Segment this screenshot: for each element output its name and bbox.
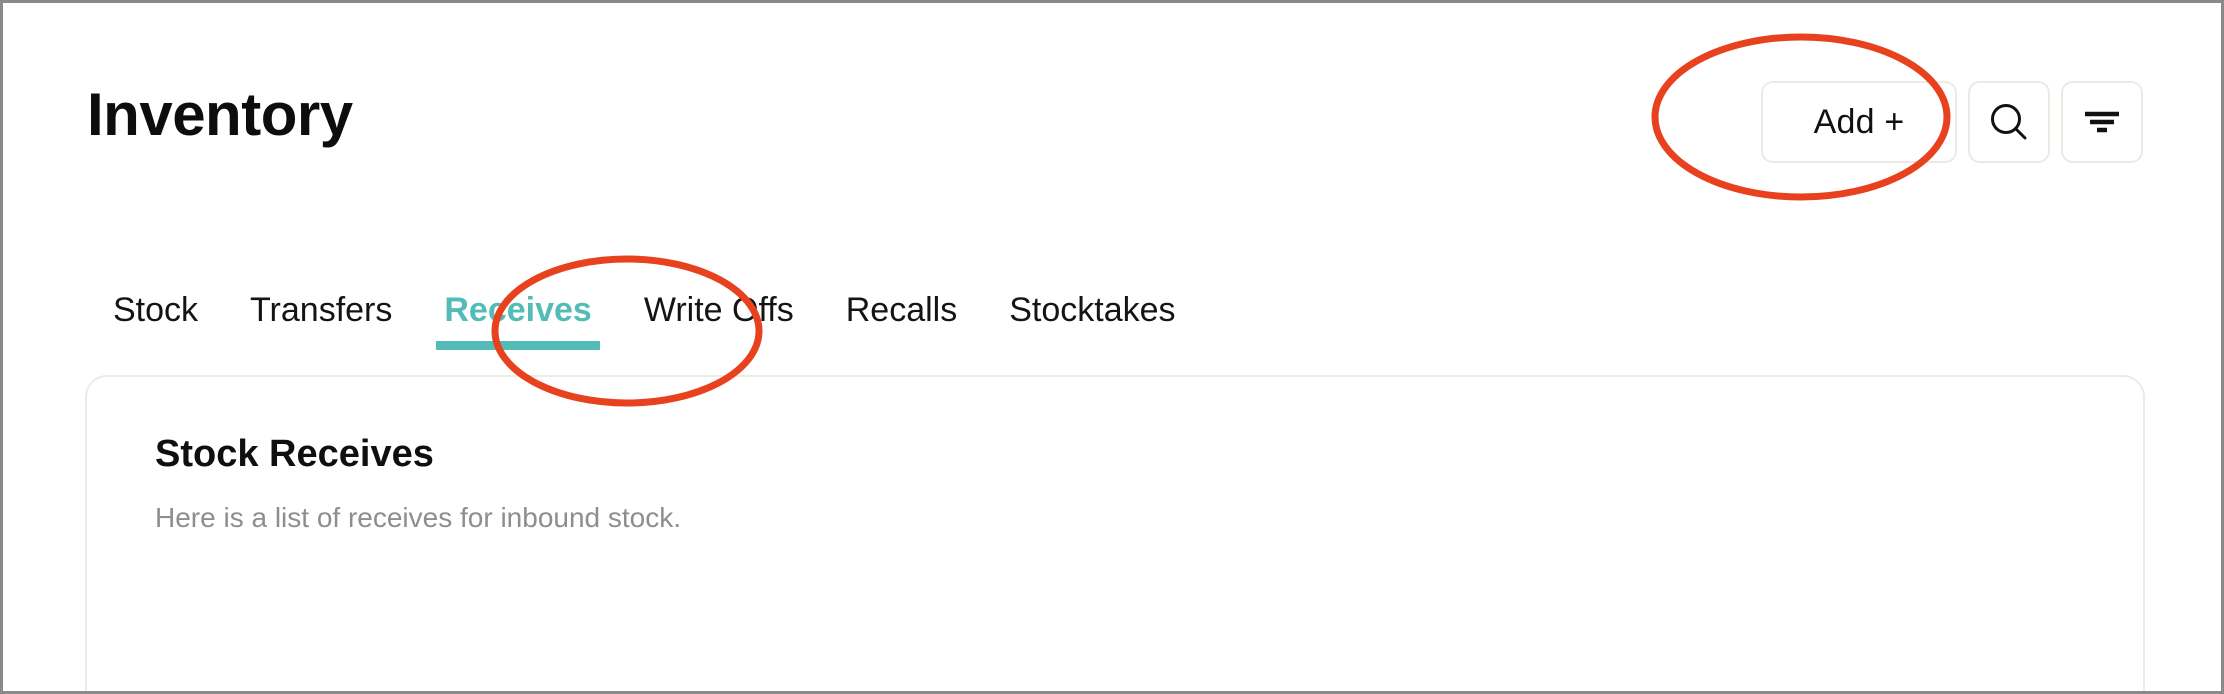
tab-recalls[interactable]: Recalls (820, 291, 983, 350)
add-button[interactable]: Add + (1761, 81, 1957, 163)
page-title: Inventory (87, 85, 353, 145)
add-button-label: Add + (1814, 103, 1905, 142)
inventory-tab-bar: Stock Transfers Receives Write Offs Reca… (87, 291, 1202, 350)
tab-label: Write Offs (644, 291, 794, 329)
tab-label: Stock (113, 291, 198, 329)
tab-stock[interactable]: Stock (87, 291, 224, 350)
page-header: Inventory Add + (3, 3, 2221, 183)
tab-write-offs[interactable]: Write Offs (618, 291, 820, 350)
tab-receives[interactable]: Receives (418, 291, 617, 350)
tab-label: Stocktakes (1009, 291, 1175, 329)
header-actions: Add + (1761, 81, 2143, 163)
tab-label: Transfers (250, 291, 392, 329)
tab-stocktakes[interactable]: Stocktakes (983, 291, 1201, 350)
search-icon (1987, 100, 2031, 144)
filter-icon (2082, 107, 2122, 137)
tab-label: Receives (444, 291, 591, 329)
filter-button[interactable] (2061, 81, 2143, 163)
card-title: Stock Receives (155, 433, 434, 476)
tab-underline (436, 341, 599, 350)
inventory-page: Inventory Add + (0, 0, 2224, 694)
search-button[interactable] (1968, 81, 2050, 163)
tab-label: Recalls (846, 291, 957, 329)
tab-transfers[interactable]: Transfers (224, 291, 418, 350)
stock-receives-card: Stock Receives Here is a list of receive… (85, 375, 2145, 694)
card-subtitle: Here is a list of receives for inbound s… (155, 502, 681, 534)
